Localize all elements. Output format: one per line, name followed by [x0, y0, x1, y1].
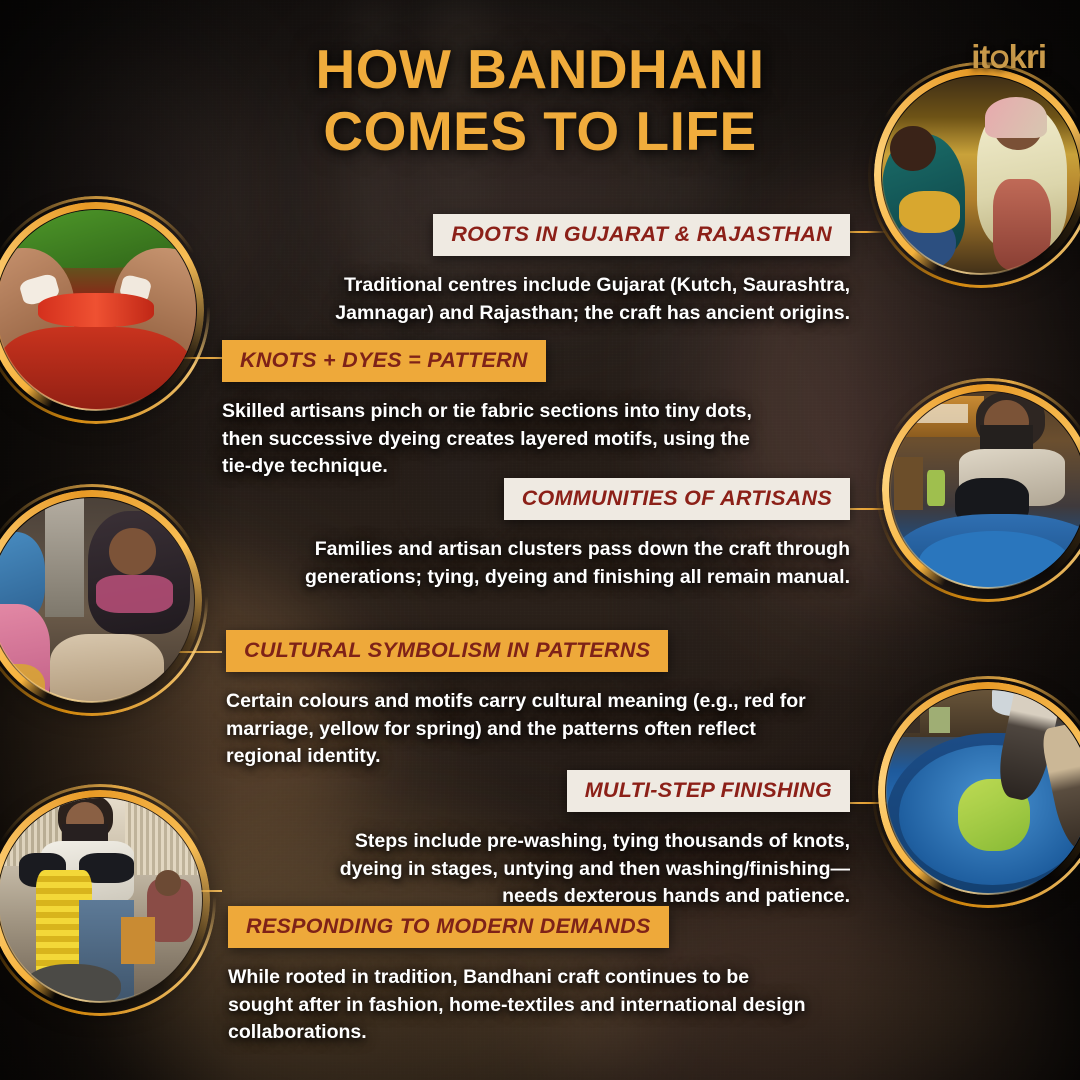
section-body-1: Traditional centres include Gujarat (Kut… [256, 272, 850, 327]
photo-artisan-yellow-cloth [0, 784, 216, 1016]
photo-hands-tying-red-fabric-disc [0, 210, 196, 410]
section-badge-2[interactable]: KNOTS + DYES = PATTERN [222, 340, 546, 382]
section-cultural-symbolism-in-patterns: CULTURAL SYMBOLISM IN PATTERNS Certain c… [226, 630, 806, 771]
section-body-3: Families and artisan clusters pass down … [240, 536, 850, 591]
section-body-6: While rooted in tradition, Bandhani craf… [228, 964, 808, 1047]
photo-blue-dye-vat-disc [886, 690, 1080, 894]
section-roots-in-gujarat-rajasthan: ROOTS IN GUJARAT & RAJASTHAN Traditional… [256, 214, 850, 327]
logo-text-part-3: kri [1009, 38, 1046, 75]
section-knots-dyes-pattern: KNOTS + DYES = PATTERN Skilled artisans … [222, 340, 782, 481]
photo-woman-knotting-cloth [0, 484, 208, 716]
section-multi-step-finishing: MULTI-STEP FINISHING Steps include pre-w… [300, 770, 850, 911]
photo-dyer-at-workshop-disc [890, 392, 1080, 588]
photo-woman-knotting-cloth-disc [0, 498, 194, 702]
section-badge-6[interactable]: RESPONDING TO MODERN DEMANDS [228, 906, 669, 948]
section-badge-5[interactable]: MULTI-STEP FINISHING [567, 770, 850, 812]
photo-blue-dye-vat [872, 676, 1080, 908]
section-body-4: Certain colours and motifs carry cultura… [226, 688, 806, 771]
title-line-2: COMES TO LIFE [0, 100, 1080, 162]
title-line-1: HOW BANDHANI [0, 38, 1080, 100]
section-badge-1[interactable]: ROOTS IN GUJARAT & RAJASTHAN [433, 214, 850, 256]
logo-text-part-1: it [971, 38, 989, 75]
section-body-2: Skilled artisans pinch or tie fabric sec… [222, 398, 782, 481]
section-body-5: Steps include pre-washing, tying thousan… [300, 828, 850, 911]
photo-dyer-at-workshop [876, 378, 1080, 602]
section-communities-of-artisans: COMMUNITIES OF ARTISANS Families and art… [240, 478, 850, 591]
section-badge-3[interactable]: COMMUNITIES OF ARTISANS [504, 478, 850, 520]
itokri-logo[interactable]: itokri [971, 38, 1046, 76]
logo-text-part-2: o [989, 38, 1008, 76]
photo-hands-tying-red-fabric [0, 196, 210, 424]
infographic-poster: HOW BANDHANI COMES TO LIFE itokri [0, 0, 1080, 1080]
section-badge-4[interactable]: CULTURAL SYMBOLISM IN PATTERNS [226, 630, 668, 672]
section-responding-to-modern-demands: RESPONDING TO MODERN DEMANDS While roote… [228, 906, 808, 1047]
page-title: HOW BANDHANI COMES TO LIFE [0, 38, 1080, 162]
photo-artisan-yellow-cloth-disc [0, 798, 202, 1002]
